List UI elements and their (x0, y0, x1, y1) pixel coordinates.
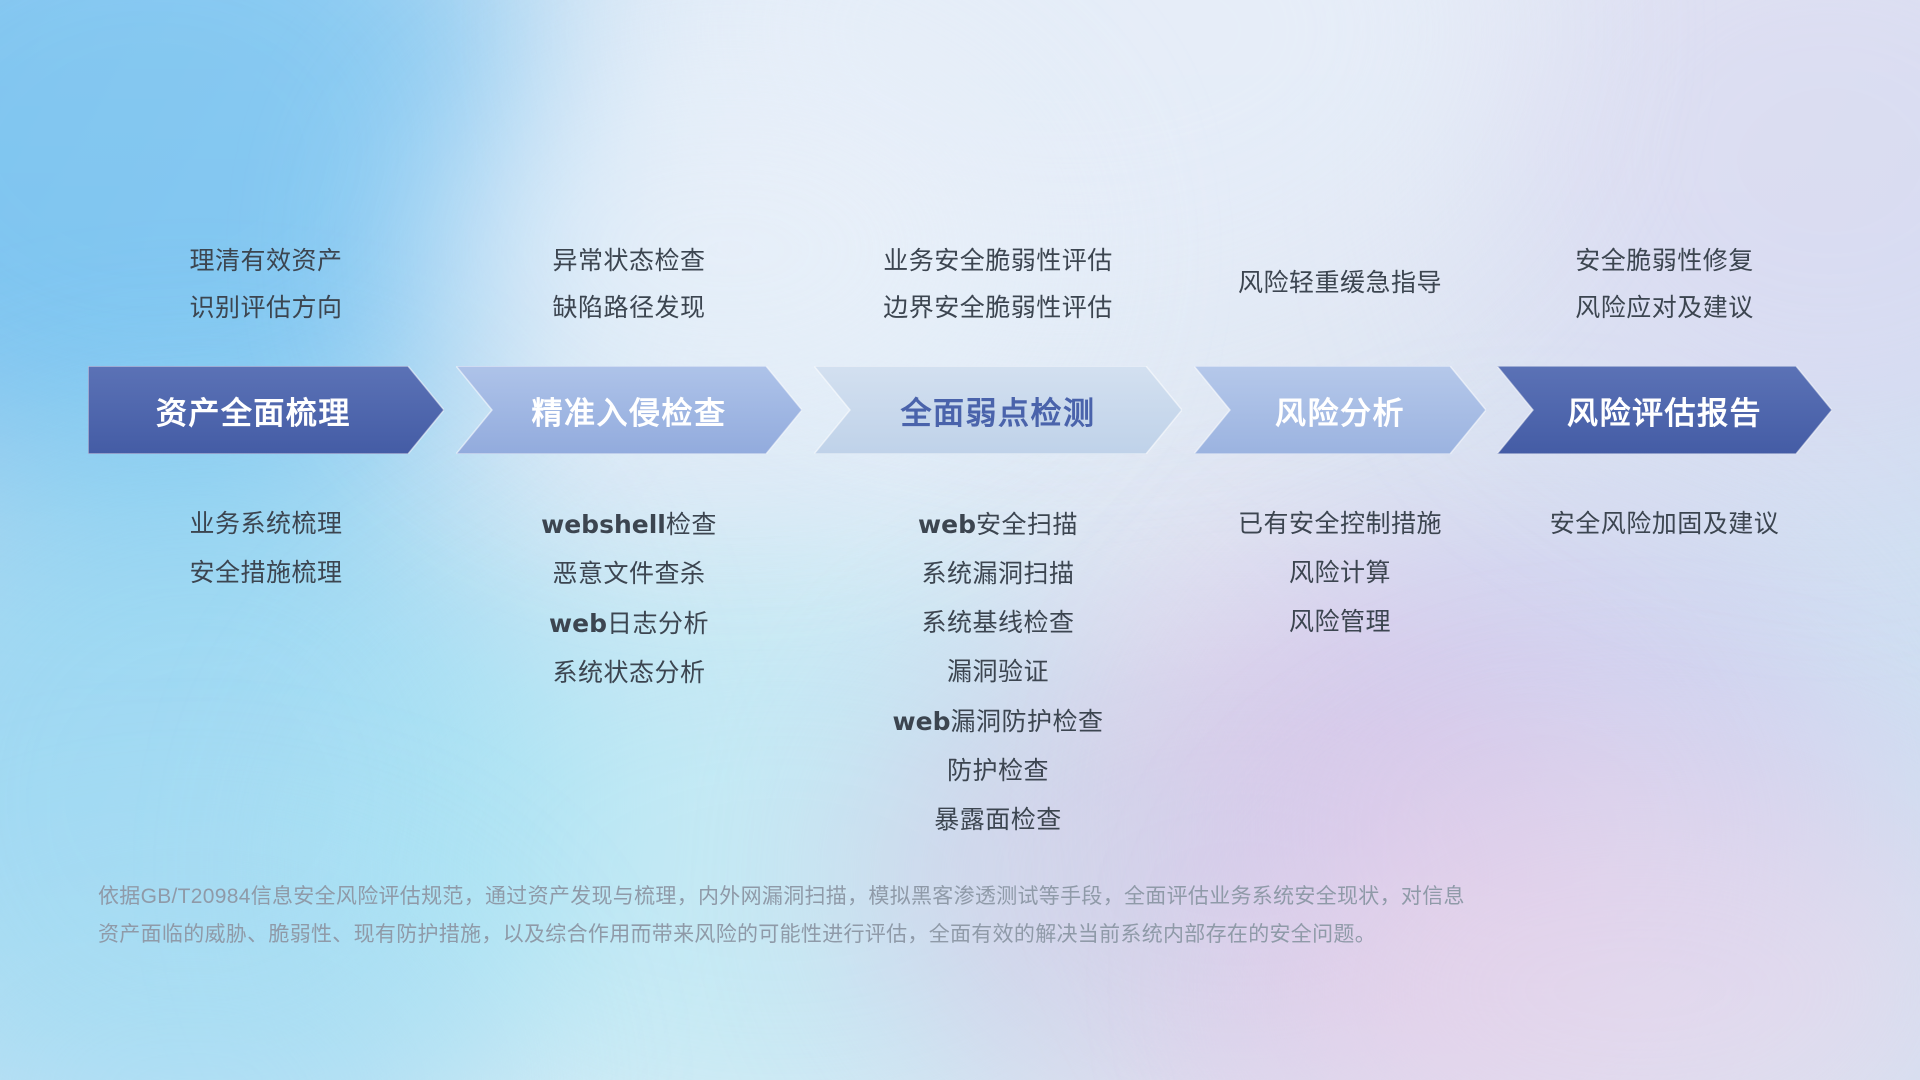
list-item-cn: 业务系统梳理 (189, 510, 342, 538)
process-diagram: 理清有效资产识别评估方向异常状态检查缺陷路径发现业务安全脆弱性评估边界安全脆弱性… (0, 0, 1920, 1080)
process-step-asset-inventory[interactable]: 资产全面梳理 (88, 366, 444, 454)
list-item-en: webshell (541, 510, 666, 539)
process-step-label-weakness-detection: 全面弱点检测 (814, 388, 1182, 433)
list-item-cn: 漏洞防护检查 (950, 708, 1103, 736)
list-item-cn: 检查 (666, 511, 717, 539)
item-list-risk-report: 安全风险加固及建议 (1452, 500, 1877, 549)
list-item-en: web (893, 707, 951, 736)
process-step-label-intrusion-check: 精准入侵检查 (456, 388, 802, 433)
list-item-cn: 系统状态分析 (552, 659, 705, 687)
process-step-risk-report[interactable]: 风险评估报告 (1497, 366, 1832, 454)
process-step-label-risk-analysis: 风险分析 (1194, 388, 1486, 433)
footer-line-2: 资产面临的威胁、脆弱性、现有防护措施，以及综合作用而带来风险的可能性进行评估，全… (98, 916, 1618, 954)
process-step-risk-analysis[interactable]: 风险分析 (1194, 366, 1486, 454)
list-item-cn: 已有安全控制措施 (1238, 510, 1442, 538)
list-item: 风险管理 (1149, 598, 1531, 647)
top-annotation-item: 安全脆弱性修复 (1452, 238, 1877, 285)
footer-description: 依据GB/T20984信息安全风险评估规范，通过资产发现与梳理，内外网漏洞扫描，… (98, 878, 1618, 954)
process-step-label-asset-inventory: 资产全面梳理 (88, 388, 444, 433)
list-item: 漏洞验证 (769, 648, 1227, 697)
list-item: 安全风险加固及建议 (1452, 500, 1877, 549)
list-item-cn: 系统漏洞扫描 (921, 560, 1074, 588)
list-item-cn: 日志分析 (607, 610, 709, 638)
list-item-en: web (918, 510, 976, 539)
top-annotation-risk-report: 安全脆弱性修复风险应对及建议 (1452, 238, 1877, 332)
list-item-cn: 风险计算 (1289, 559, 1391, 587)
list-item-cn: 系统基线检查 (921, 609, 1074, 637)
list-item-cn: 暴露面检查 (934, 806, 1062, 834)
list-item-cn: 安全扫描 (976, 511, 1078, 539)
list-item: 风险计算 (1149, 549, 1531, 598)
list-item-cn: 漏洞验证 (947, 658, 1049, 686)
footer-line-1: 依据GB/T20984信息安全风险评估规范，通过资产发现与梳理，内外网漏洞扫描，… (98, 878, 1618, 916)
list-item: web漏洞防护检查 (769, 697, 1227, 747)
process-step-label-risk-report: 风险评估报告 (1497, 388, 1832, 433)
process-step-weakness-detection[interactable]: 全面弱点检测 (814, 366, 1182, 454)
list-item-cn: 风险管理 (1289, 608, 1391, 636)
list-item-cn: 安全风险加固及建议 (1550, 510, 1780, 538)
list-item-cn: 安全措施梳理 (189, 559, 342, 587)
top-annotation-item: 风险应对及建议 (1452, 285, 1877, 332)
list-item: 防护检查 (769, 747, 1227, 796)
process-step-intrusion-check[interactable]: 精准入侵检查 (456, 366, 802, 454)
process-chevron-band: 资产全面梳理精准入侵检查全面弱点检测风险分析风险评估报告 (88, 366, 1832, 454)
list-item-cn: 恶意文件查杀 (552, 560, 705, 588)
list-item-cn: 防护检查 (947, 757, 1049, 785)
list-item: 暴露面检查 (769, 796, 1227, 845)
list-item-en: web (549, 609, 607, 638)
